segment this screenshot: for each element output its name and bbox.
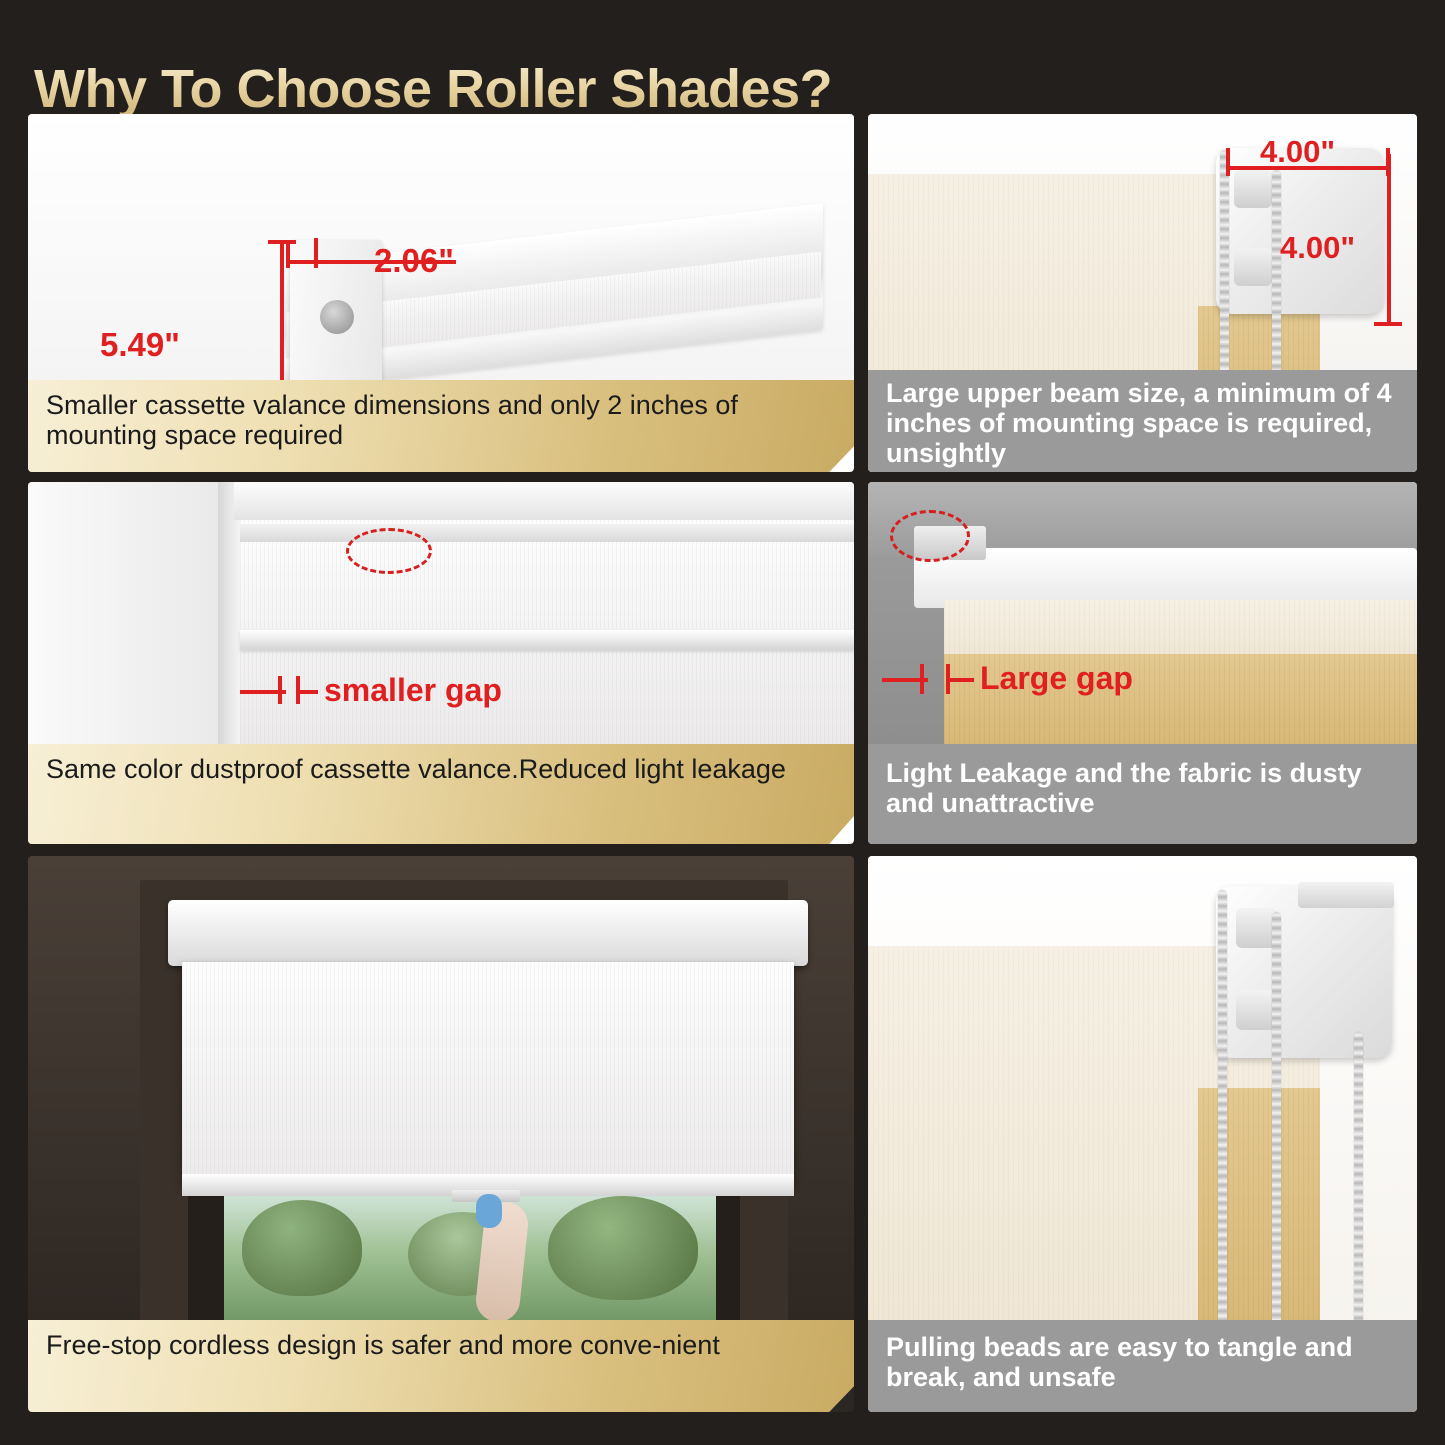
bead-chain-back [1272,912,1281,1326]
caption-pulling-beads: Pulling beads are easy to tangle and bre… [868,1320,1417,1412]
housing-bracket-top [1234,170,1272,208]
housing-bracket-bottom [1234,248,1272,286]
cassette-valance-bar [240,524,854,542]
caption-cordless-design: Free-stop cordless design is safer and m… [28,1320,854,1412]
cassette-valance [168,900,808,966]
gap-highlight-ellipse [890,510,970,562]
window-frame-left [28,482,228,744]
bead-chain-back [1272,170,1281,400]
depth-dimension-label: 4.00" [1280,230,1355,266]
infographic-page: Why To Choose Roller Shades? 2.06" 5.49"… [0,0,1445,1445]
end-cap-hole [320,300,354,334]
panel-pulling-beads: Pulling beads are easy to tangle and bre… [868,856,1417,1412]
mounting-bracket [1298,882,1394,908]
gap-tick-left [278,676,282,704]
hand-pinch [476,1194,502,1228]
roller-fabric-tan-edge [1198,1088,1320,1326]
panel-dustproof-cassette-valance: smaller gap Same color dustproof cassett… [28,482,854,844]
large-gap-label: Large gap [980,660,1133,697]
panel-light-leakage: Large gap Light Leakage and the fabric i… [868,482,1417,844]
width-dimension-label: 2.06" [374,242,454,280]
tree-right [548,1196,698,1300]
fabric-cream-band [944,600,1417,658]
gap-arrow-right [948,678,974,682]
bead-chain-front [1220,150,1229,400]
depth-dimension-line [1387,154,1391,326]
caption-large-upper-beam: Large upper beam size, a minimum of 4 in… [868,370,1417,472]
page-title: Why To Choose Roller Shades? [34,58,832,120]
height-dimension-label: 5.49" [100,326,180,364]
caption-dustproof-cassette-valance: Same color dustproof cassette valance.Re… [28,744,854,844]
bead-chain-side [1354,1032,1363,1326]
window-frame-top [234,482,854,520]
caption-light-leakage: Light Leakage and the fabric is dusty an… [868,744,1417,844]
width-dimension-label: 4.00" [1260,134,1335,170]
depth-dimension-tick-bottom [1374,322,1402,326]
roller-head [914,548,1417,608]
gap-tick-left [920,664,924,694]
smaller-gap-label: smaller gap [324,672,502,709]
tree-left [242,1200,362,1296]
width-dimension-tick-right [314,238,318,268]
gap-arrow-right [296,690,318,694]
panel-cassette-valance-dimensions: 2.06" 5.49" Smaller cassette valance dim… [28,114,854,472]
bead-chain-front [1218,890,1227,1326]
shade-fabric [182,962,794,1184]
window-frame-edge [218,482,240,744]
bottom-rail [240,630,854,650]
panel-cordless-design: Free-stop cordless design is safer and m… [28,856,854,1412]
width-dimension-tick-left [1226,148,1230,176]
gap-highlight-ellipse [346,528,432,574]
housing-bracket-bottom [1236,990,1276,1030]
panel-large-upper-beam: 4.00" 4.00" Large upper beam size, a min… [868,114,1417,472]
housing-bracket-top [1236,908,1276,948]
width-dimension-tick-left [286,240,290,268]
caption-cassette-valance-dimensions: Smaller cassette valance dimensions and … [28,380,854,472]
height-dimension-tick-top [268,240,296,244]
